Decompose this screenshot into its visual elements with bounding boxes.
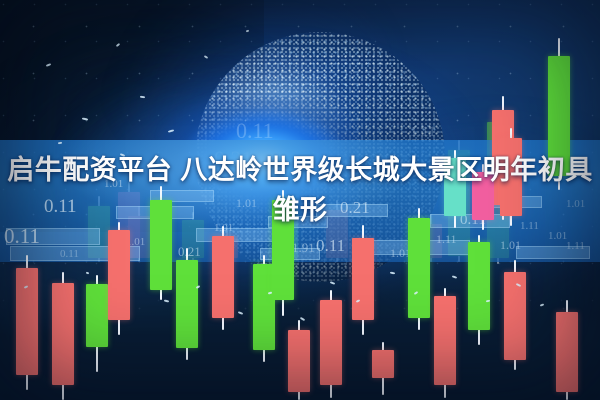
light-speck xyxy=(540,303,544,306)
light-speck xyxy=(238,311,243,315)
light-speck xyxy=(24,285,28,288)
banner-image: 0.110.211.113.11 0.110.111.011.011.011.0… xyxy=(0,0,600,400)
light-speck xyxy=(268,292,272,295)
light-speck xyxy=(86,272,89,275)
light-speck xyxy=(168,129,174,133)
headline-line-2: 雏形 xyxy=(0,190,600,230)
light-speck xyxy=(116,43,120,47)
light-speck xyxy=(330,281,335,284)
light-speck xyxy=(82,117,88,120)
light-speck xyxy=(452,275,457,279)
light-speck xyxy=(164,299,169,302)
light-speck xyxy=(204,55,208,59)
light-speck xyxy=(46,63,51,67)
light-speck xyxy=(196,285,200,289)
page-title: 启牛配资平台 八达岭世界级长城大景区明年初具 雏形 xyxy=(0,150,600,230)
light-speck xyxy=(300,317,305,321)
light-speck xyxy=(390,272,395,275)
light-speck xyxy=(414,291,418,295)
light-speck xyxy=(516,283,521,287)
light-speck xyxy=(140,96,145,99)
light-speck xyxy=(246,30,249,33)
light-speck xyxy=(58,142,62,145)
light-speck xyxy=(356,299,360,303)
light-speck xyxy=(486,300,490,303)
headline-line-1: 启牛配资平台 八达岭世界级长城大景区明年初具 xyxy=(0,150,600,190)
